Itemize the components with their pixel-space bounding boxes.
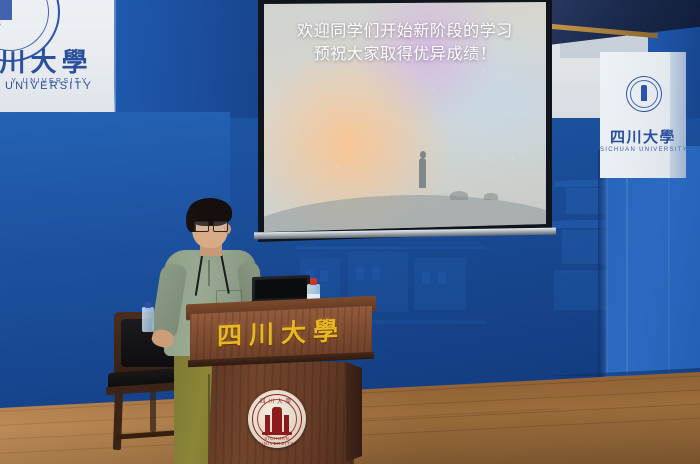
backdrop-fold-corner [598, 150, 608, 400]
backdrop-fold-face [606, 146, 700, 398]
scu-seal-icon-right [626, 76, 662, 112]
podium: 四川大學 四川大學 1896 SICHUAN UNIVERSITY [186, 300, 376, 464]
banner-left-name-cn: 川大學 [0, 42, 114, 79]
slide-text-block: 欢迎同学们开始新阶段的学习 预祝大家取得优异成绩！ [264, 20, 546, 65]
slide-shrub [484, 193, 498, 200]
slide-figure-silhouette [419, 158, 426, 188]
glasses-icon [194, 221, 228, 230]
water-bottle-secondary [142, 302, 154, 332]
slide-line-1: 欢迎同学们开始新阶段的学习 [264, 20, 546, 43]
podium-seal-year: 1896 [248, 427, 306, 432]
slide-line-2: 预祝大家取得优异成绩！ [264, 43, 546, 66]
slide-shrub [450, 191, 468, 200]
banner-right: 四川大學 SICHUAN UNIVERSITY [600, 52, 686, 178]
banner-left: 1896 Y UNIVERSITY 川大學 UNIVERSITY [0, 0, 114, 124]
projection-screen-surface: 欢迎同学们开始新阶段的学习 预祝大家取得优异成绩！ [264, 2, 546, 232]
scu-seal-podium: 四川大學 1896 SICHUAN UNIVERSITY [248, 390, 306, 448]
lecture-hall-photo: 1896 Y UNIVERSITY 川大學 UNIVERSITY [0, 0, 700, 464]
seal-year-left: 1896 [0, 22, 1, 28]
banner-left-name-en: UNIVERSITY [0, 80, 114, 92]
podium-seal-name-cn: 四川大學 [248, 397, 306, 405]
podium-seal-name-en: SICHUAN UNIVERSITY [248, 436, 306, 446]
projection-screen: 欢迎同学们开始新阶段的学习 预祝大家取得优异成绩！ [258, 0, 552, 246]
